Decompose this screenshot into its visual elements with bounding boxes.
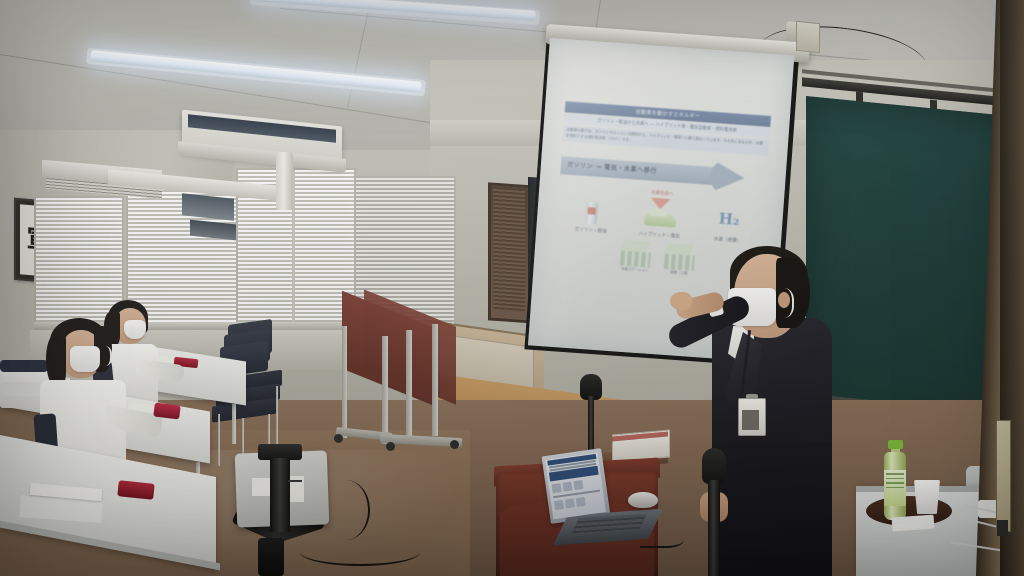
badge-photo [742,410,759,430]
table-leg [432,324,438,436]
caster-wheel [450,440,459,449]
fuel-pump-icon [560,198,624,228]
car-icon [629,203,693,233]
pencil-case[interactable] [153,402,181,419]
arrow-head [709,159,745,195]
wall-wood-panel-slats [493,189,525,311]
chair-leg [218,414,220,466]
laptop-slide-icon [554,500,564,510]
microphone-handle [708,480,720,576]
duct-pipe [276,152,293,210]
laptop-slide-icon [573,480,583,490]
folded-tables[interactable] [336,308,466,458]
table-leg [342,326,347,438]
tablet-cable [322,480,370,540]
bottle-cap [888,440,903,449]
slide-icon-item: ハイブリッド・電気 [628,203,692,240]
door-thermometer [996,420,1011,532]
caster-wheel [386,442,395,451]
slide-icon-item: ガソリン・軽油 [560,198,624,235]
label-line [886,482,904,484]
mask-strap [770,288,794,318]
tripod-center-column [270,458,290,532]
podium-cable [640,528,684,548]
presenter [672,248,862,576]
presenter-pointing-hand [670,292,692,310]
table-leg [406,330,412,444]
bottle-label [884,470,906,506]
floor-cable [300,538,420,566]
label-line [886,487,904,489]
tablet-asset-label [252,478,272,496]
laptop-display[interactable] [545,453,606,520]
caster-wheel [334,434,343,443]
label-line [886,478,904,480]
paper-cup[interactable] [914,480,940,514]
station-icon [618,239,654,267]
slide-icon-item: H₂ 水素（燃費） [697,208,761,245]
slide-bottom-item: 水素ステーション [618,239,654,272]
laptop-slide-icon [576,497,586,507]
handheld-microphone[interactable] [702,448,726,484]
mask-strap [96,346,112,366]
napkin [892,515,935,532]
laptop-slide-icon [565,498,575,508]
laptop-slide-icon [562,482,572,492]
laptop-slide-icon [552,483,562,493]
desk-leg [232,404,236,444]
classroom-photo: 軍 自動車を動かすエネルギー ガソリン・軽油から水素へ — [0,0,1024,576]
presenter-suit-jacket [712,318,832,576]
tablet-barcode [288,480,302,482]
label-line [886,473,904,475]
thermometer-bulb [997,520,1008,536]
table-leg [382,336,388,444]
tripod-leg [258,538,284,576]
wall-speaker-box [796,21,820,54]
h2-icon: H₂ [697,208,761,238]
computer-mouse[interactable] [628,492,658,508]
